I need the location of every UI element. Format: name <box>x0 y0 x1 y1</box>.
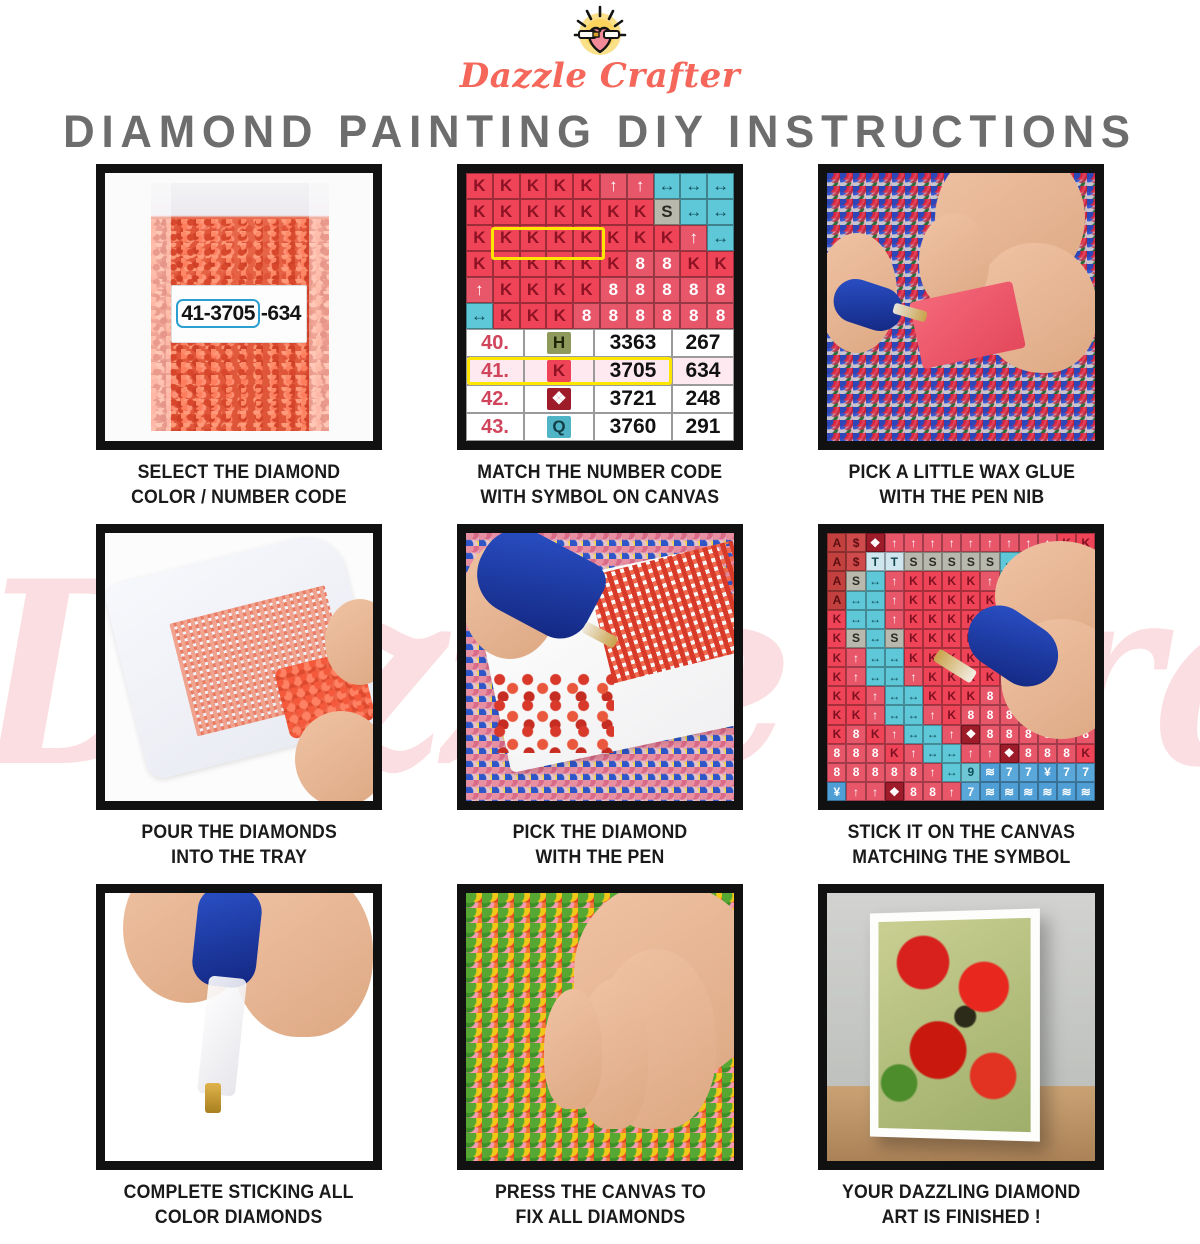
symbol-cell: K <box>942 629 961 648</box>
symbol-cell: ↔ <box>942 744 961 763</box>
symbol-cell: 8 <box>827 744 846 763</box>
symbol-cell: K <box>942 705 961 724</box>
symbol-cell: $ <box>846 533 865 552</box>
symbol-cell: ❖ <box>1000 744 1019 763</box>
step-8: PRESS THE CANVAS TO FIX ALL DIAMONDS <box>431 884 768 1244</box>
symbol-cell: S <box>961 552 980 571</box>
symbol-cell: 7 <box>961 782 980 801</box>
symbol-cell: ↑ <box>846 782 865 801</box>
wax-glue-photo <box>827 173 1095 441</box>
symbol-cell: ↑ <box>942 533 961 552</box>
symbol-cell: ↔ <box>866 591 885 610</box>
loose-diamonds <box>494 673 614 753</box>
symbol-cell: ↑ <box>923 533 942 552</box>
step-1-image: 41-3705-634 <box>96 164 382 450</box>
table-row: 42. ❖ 3721 248 <box>466 385 734 413</box>
symbol-cell: 8 <box>885 763 904 782</box>
symbol-cell: $ <box>846 552 865 571</box>
legend-dmc: 3705 <box>594 357 672 385</box>
symbol-cell: K <box>923 667 942 686</box>
tray-photo <box>105 533 373 801</box>
step-5-caption-line1: PICK THE DIAMOND <box>513 820 688 845</box>
step-7-caption-line2: COLOR DIAMONDS <box>124 1205 354 1230</box>
legend-symbol: K <box>524 357 594 385</box>
bag-label: 41-3705-634 <box>171 285 307 343</box>
symbol-cell: 7 <box>1019 763 1038 782</box>
symbol-cell: 8 <box>1019 744 1038 763</box>
pen-grip <box>190 884 264 990</box>
symbol-cell: 8 <box>904 782 923 801</box>
step-3-image <box>818 164 1104 450</box>
symbol-cell: 9 <box>961 763 980 782</box>
step-9-caption-line2: ART IS FINISHED ! <box>842 1205 1081 1230</box>
symbol-cell: ≋ <box>1076 782 1095 801</box>
symbol-cell: ↔ <box>866 571 885 590</box>
symbol-cell: S <box>942 552 961 571</box>
symbol-cell: ↑ <box>980 744 999 763</box>
symbol-cell: ↑ <box>923 705 942 724</box>
symbol-cell: ¥ <box>827 782 846 801</box>
step-3-caption-line1: PICK A LITTLE WAX GLUE <box>848 460 1075 485</box>
step-6-caption-line2: MATCHING THE SYMBOL <box>848 845 1076 870</box>
symbol-cell: K <box>866 725 885 744</box>
symbol-cell: 8 <box>846 763 865 782</box>
heart-pen-sunburst-logo <box>569 4 631 60</box>
symbol-cell: ↔ <box>885 667 904 686</box>
legend-count: 248 <box>672 385 734 413</box>
step-8-image <box>457 884 743 1170</box>
symbol-cell: K <box>942 591 961 610</box>
legend-count: 291 <box>672 413 734 441</box>
step-6-caption: STICK IT ON THE CANVAS MATCHING THE SYMB… <box>848 820 1076 870</box>
symbol-cell: 8 <box>866 744 885 763</box>
step-7-image <box>96 884 382 1170</box>
step-9-caption: YOUR DAZZLING DIAMOND ART IS FINISHED ! <box>842 1180 1081 1230</box>
symbol-cell: ↑ <box>942 782 961 801</box>
symbol-cell: ≋ <box>1019 782 1038 801</box>
step-9: YOUR DAZZLING DIAMOND ART IS FINISHED ! <box>793 884 1130 1244</box>
legend-table: 40. H 3363 267 41. K 3705 634 42. <box>466 329 734 441</box>
step-7-caption: COMPLETE STICKING ALL COLOR DIAMONDS <box>124 1180 354 1230</box>
symbol-cell: ↑ <box>961 744 980 763</box>
symbol-cell: S <box>885 629 904 648</box>
step-4-image <box>96 524 382 810</box>
table-row: 40. H 3363 267 <box>466 329 734 357</box>
symbol-cell: K <box>885 744 904 763</box>
symbol-cell: ↑ <box>846 667 865 686</box>
symbol-cell: K <box>961 591 980 610</box>
legend-no: 41. <box>466 357 524 385</box>
symbol-cell: K <box>923 571 942 590</box>
symbol-cell: ¥ <box>1038 763 1057 782</box>
step-5-caption: PICK THE DIAMOND WITH THE PEN <box>513 820 688 870</box>
symbol-cell: 7 <box>1057 763 1076 782</box>
symbol-cell: 8 <box>980 725 999 744</box>
symbol-cell: ↑ <box>904 533 923 552</box>
symbol-cell: 8 <box>1000 725 1019 744</box>
step-1-caption-line1: SELECT THE DIAMOND <box>131 460 347 485</box>
step-4: POUR THE DIAMONDS INTO THE TRAY <box>70 524 407 884</box>
symbol-cell: 8 <box>1038 744 1057 763</box>
symbol-cell: ❖ <box>961 725 980 744</box>
symbol-cell: ↑ <box>866 705 885 724</box>
symbol-cell: ↑ <box>904 667 923 686</box>
symbol-cell: ↔ <box>885 686 904 705</box>
canvas-chart-and-legend: KKK KK ↑↑ ↔↔↔ KKK KKK KS ↔↔ KKK KKK KK ↑… <box>466 173 734 441</box>
symbol-cell: K <box>846 686 865 705</box>
symbol-cell: ↑ <box>866 782 885 801</box>
symbol-cell: ↔ <box>923 744 942 763</box>
symbol-cell: ↔ <box>885 705 904 724</box>
symbol-cell: ≋ <box>1000 782 1019 801</box>
symbol-cell: K <box>923 629 942 648</box>
symbol-cell: K <box>942 686 961 705</box>
symbol-cell: K <box>827 610 846 629</box>
step-2: KKK KK ↑↑ ↔↔↔ KKK KKK KS ↔↔ KKK KKK KK ↑… <box>431 164 768 524</box>
symbol-cell: K <box>827 648 846 667</box>
symbol-cell: K <box>827 686 846 705</box>
symbol-cell: 8 <box>846 744 865 763</box>
symbol-cell: ↑ <box>1000 533 1019 552</box>
stick-on-canvas-photo: A$❖↑↑↑↑↑↑↑↑↑KKA$TTSSSSS↔↔SKKAS↔↑KKKK↑↔↔K… <box>827 533 1095 801</box>
symbol-cell: 8 <box>866 763 885 782</box>
symbol-cell: ↔ <box>846 610 865 629</box>
symbol-cell: ↑ <box>846 648 865 667</box>
legend-count: 267 <box>672 329 734 357</box>
symbol-cell: ≋ <box>980 782 999 801</box>
symbol-cell: ↑ <box>942 725 961 744</box>
step-4-caption: POUR THE DIAMONDS INTO THE TRAY <box>141 820 337 870</box>
symbol-cell: ↔ <box>904 686 923 705</box>
symbol-cell: K <box>942 610 961 629</box>
symbol-cell: ↑ <box>904 744 923 763</box>
symbol-cell: S <box>980 552 999 571</box>
bag-code-text: 41-3705-634 <box>176 302 301 326</box>
symbol-cell: A <box>827 591 846 610</box>
step-4-caption-line2: INTO THE TRAY <box>141 845 337 870</box>
symbol-cell: A <box>827 552 846 571</box>
legend-count: 634 <box>672 357 734 385</box>
legend-symbol: H <box>524 329 594 357</box>
symbol-cell: ≋ <box>980 763 999 782</box>
symbol-cell: ↔ <box>866 610 885 629</box>
symbol-cell: 8 <box>961 705 980 724</box>
step-3: PICK A LITTLE WAX GLUE WITH THE PEN NIB <box>793 164 1130 524</box>
symbol-cell: ≋ <box>1038 782 1057 801</box>
symbol-cell: K <box>923 591 942 610</box>
step-1-caption-line2: COLOR / NUMBER CODE <box>131 485 347 510</box>
symbol-cell: K <box>827 725 846 744</box>
step-7: COMPLETE STICKING ALL COLOR DIAMONDS <box>70 884 407 1244</box>
step-2-caption-line1: MATCH THE NUMBER CODE <box>477 460 722 485</box>
step-2-caption-line2: WITH SYMBOL ON CANVAS <box>477 485 722 510</box>
step-7-caption-line1: COMPLETE STICKING ALL <box>124 1180 354 1205</box>
symbol-cell: ↑ <box>885 571 904 590</box>
step-3-caption: PICK A LITTLE WAX GLUE WITH THE PEN NIB <box>848 460 1075 510</box>
bag-code-suffix: -634 <box>261 302 301 325</box>
symbol-cell: 8 <box>846 725 865 744</box>
symbol-cell: 8 <box>980 686 999 705</box>
symbol-cell: K <box>904 571 923 590</box>
symbol-cell: ❖ <box>885 782 904 801</box>
symbol-cell: ≋ <box>1057 782 1076 801</box>
symbol-cell: 8 <box>1057 744 1076 763</box>
step-6-image: A$❖↑↑↑↑↑↑↑↑↑KKA$TTSSSSS↔↔SKKAS↔↑KKKK↑↔↔K… <box>818 524 1104 810</box>
symbol-cell: ↑ <box>885 533 904 552</box>
legend-dmc: 3363 <box>594 329 672 357</box>
step-8-caption-line1: PRESS THE CANVAS TO <box>494 1180 705 1205</box>
instructions-poster: Dazzle Crafter D <box>0 0 1200 1200</box>
symbol-cell: K <box>942 571 961 590</box>
symbol-cell: S <box>904 552 923 571</box>
picture-frame <box>870 909 1040 1142</box>
symbol-cell: ↔ <box>923 725 942 744</box>
step-9-image <box>818 884 1104 1170</box>
steps-grid: 41-3705-634 SELECT THE DIAMOND COLOR / N… <box>0 158 1200 1244</box>
legend-no: 42. <box>466 385 524 413</box>
symbol-cell: A <box>827 571 846 590</box>
legend-symbol: Q <box>524 413 594 441</box>
legend-dmc: 3721 <box>594 385 672 413</box>
step-5-image <box>457 524 743 810</box>
symbol-cell: K <box>827 705 846 724</box>
symbol-cell: S <box>846 571 865 590</box>
brand-name: Dazzle Crafter <box>0 56 1200 96</box>
step-2-caption: MATCH THE NUMBER CODE WITH SYMBOL ON CAN… <box>477 460 722 510</box>
symbol-cell: ❖ <box>866 533 885 552</box>
symbol-cell: K <box>904 629 923 648</box>
pen-nib <box>205 1083 221 1113</box>
symbol-cell: A <box>827 533 846 552</box>
symbol-cell: K <box>961 686 980 705</box>
symbol-cell: K <box>827 667 846 686</box>
symbol-cell: T <box>885 552 904 571</box>
symbol-cell: 8 <box>827 763 846 782</box>
symbol-cell: ↑ <box>980 533 999 552</box>
legend-symbol: ❖ <box>524 385 594 413</box>
table-row: 43. Q 3760 291 <box>466 413 734 441</box>
symbol-cell: K <box>1076 744 1095 763</box>
step-9-caption-line1: YOUR DAZZLING DIAMOND <box>842 1180 1081 1205</box>
symbol-cell: 7 <box>1076 763 1095 782</box>
symbol-cell: ↔ <box>942 763 961 782</box>
symbol-cell: ↑ <box>885 610 904 629</box>
symbol-cell: 7 <box>1000 763 1019 782</box>
step-6-caption-line1: STICK IT ON THE CANVAS <box>848 820 1076 845</box>
step-1-caption: SELECT THE DIAMOND COLOR / NUMBER CODE <box>131 460 347 510</box>
complete-sticking-photo <box>105 893 373 1161</box>
symbol-cell: ↔ <box>904 705 923 724</box>
symbol-cell: 8 <box>980 705 999 724</box>
symbol-cell: 8 <box>923 782 942 801</box>
step-4-caption-line1: POUR THE DIAMONDS <box>141 820 337 845</box>
table-row: 41. K 3705 634 <box>466 357 734 385</box>
step-2-image: KKK KK ↑↑ ↔↔↔ KKK KKK KS ↔↔ KKK KKK KK ↑… <box>457 164 743 450</box>
canvas-symbol-grid: KKK KK ↑↑ ↔↔↔ KKK KKK KS ↔↔ KKK KKK KK ↑… <box>466 173 734 329</box>
step-8-caption: PRESS THE CANVAS TO FIX ALL DIAMONDS <box>494 1180 705 1230</box>
step-1: 41-3705-634 SELECT THE DIAMOND COLOR / N… <box>70 164 407 524</box>
symbol-cell: K <box>904 648 923 667</box>
symbol-cell: K <box>846 705 865 724</box>
symbol-cell: K <box>904 591 923 610</box>
symbol-cell: K <box>904 610 923 629</box>
legend-dmc: 3760 <box>594 413 672 441</box>
press-canvas-photo <box>466 893 734 1161</box>
symbol-cell: ↔ <box>885 648 904 667</box>
step-6: A$❖↑↑↑↑↑↑↑↑↑KKA$TTSSSSS↔↔SKKAS↔↑KKKK↑↔↔K… <box>793 524 1130 884</box>
symbol-cell: T <box>866 552 885 571</box>
bag-of-diamonds-photo: 41-3705-634 <box>105 173 373 441</box>
framed-art-photo <box>827 893 1095 1161</box>
symbol-cell: K <box>923 610 942 629</box>
symbol-cell: ↔ <box>904 725 923 744</box>
step-3-caption-line2: WITH THE PEN NIB <box>848 485 1075 510</box>
bag-code-highlight: 41-3705 <box>176 299 260 328</box>
step-5-caption-line2: WITH THE PEN <box>513 845 688 870</box>
step-5: PICK THE DIAMOND WITH THE PEN <box>431 524 768 884</box>
symbol-cell: 8 <box>904 763 923 782</box>
pick-diamond-photo <box>466 533 734 801</box>
symbol-cell: ↑ <box>885 591 904 610</box>
symbol-cell: K <box>961 571 980 590</box>
symbol-cell: ↔ <box>846 591 865 610</box>
symbol-cell: ↔ <box>866 629 885 648</box>
symbol-cell: K <box>923 686 942 705</box>
legend-no: 40. <box>466 329 524 357</box>
legend-no: 43. <box>466 413 524 441</box>
symbol-cell: S <box>923 552 942 571</box>
page-title: DIAMOND PAINTING DIY INSTRUCTIONS <box>18 106 1182 158</box>
poster-header: Dazzle Crafter DIAMOND PAINTING DIY INST… <box>0 0 1200 158</box>
symbol-cell: ↑ <box>866 686 885 705</box>
symbol-cell: ↔ <box>866 648 885 667</box>
symbol-cell: K <box>827 629 846 648</box>
symbol-cell: ↑ <box>885 725 904 744</box>
step-8-caption-line2: FIX ALL DIAMONDS <box>494 1205 705 1230</box>
poppy-artwork <box>879 918 1031 1132</box>
symbol-cell: ↔ <box>866 667 885 686</box>
symbol-cell: ↑ <box>961 533 980 552</box>
symbol-cell: ↑ <box>923 763 942 782</box>
symbol-cell: S <box>846 629 865 648</box>
